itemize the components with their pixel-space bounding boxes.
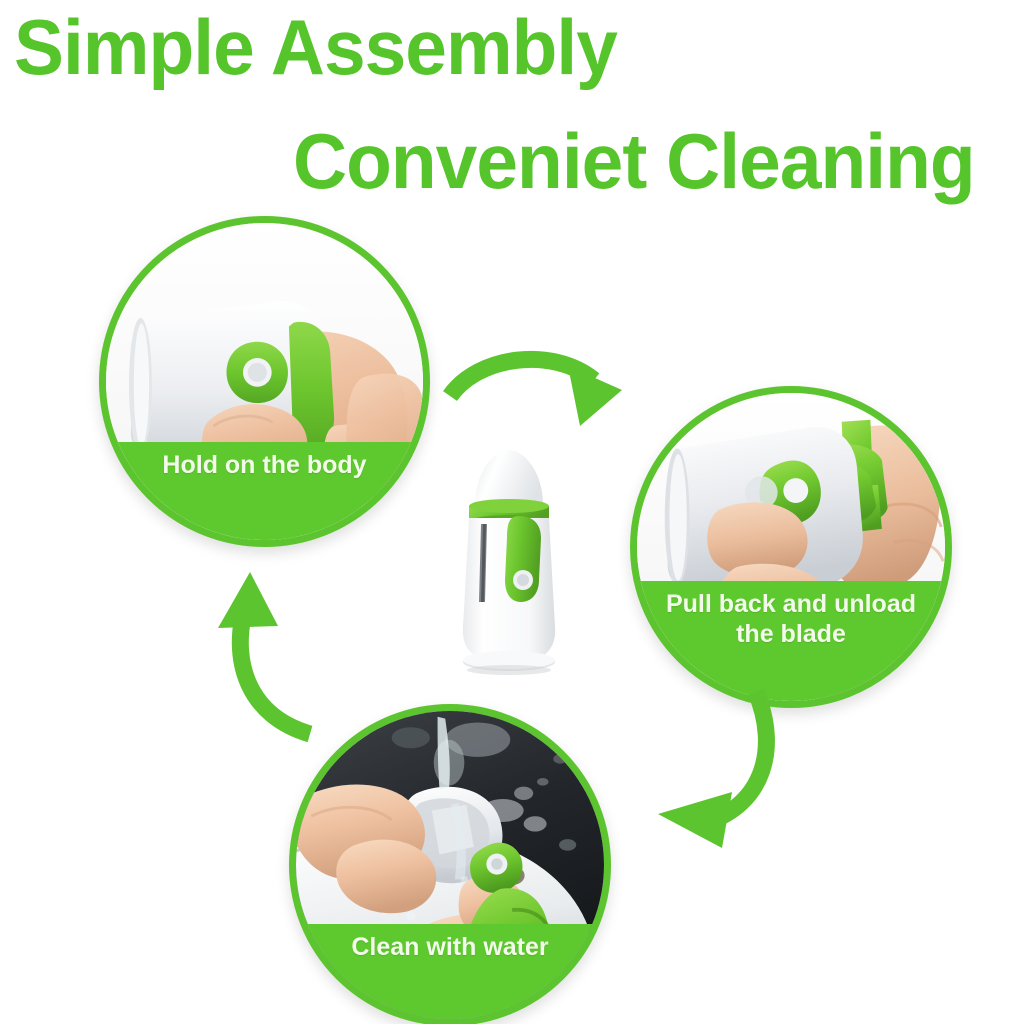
step-circle-1: Hold on the body xyxy=(99,216,430,547)
step-2-caption-line-2: the blade xyxy=(736,620,846,648)
center-product-image xyxy=(433,444,585,676)
headline-line-1: Simple Assembly xyxy=(14,8,617,86)
step-circle-2: Pull back and unload the blade xyxy=(630,386,952,708)
step-3-caption-band: Clean with water xyxy=(296,924,604,1019)
step-1-caption-band: Hold on the body xyxy=(106,442,423,540)
step-1-caption: Hold on the body xyxy=(148,451,380,481)
step-circle-3: Clean with water xyxy=(289,704,611,1024)
arrow-step3-to-step1 xyxy=(198,556,368,746)
infographic-page: Simple Assembly Conveniet Cleaning xyxy=(0,0,1024,1024)
arrow-step2-to-step3 xyxy=(596,686,786,876)
arrow-step1-to-step2 xyxy=(444,352,654,462)
step-3-caption: Clean with water xyxy=(337,933,562,963)
step-2-caption: Pull back and unload the blade xyxy=(652,590,930,649)
step-2-caption-band: Pull back and unload the blade xyxy=(637,581,945,701)
headline-line-2: Conveniet Cleaning xyxy=(293,122,975,200)
step-2-caption-line-1: Pull back and unload xyxy=(666,590,916,618)
